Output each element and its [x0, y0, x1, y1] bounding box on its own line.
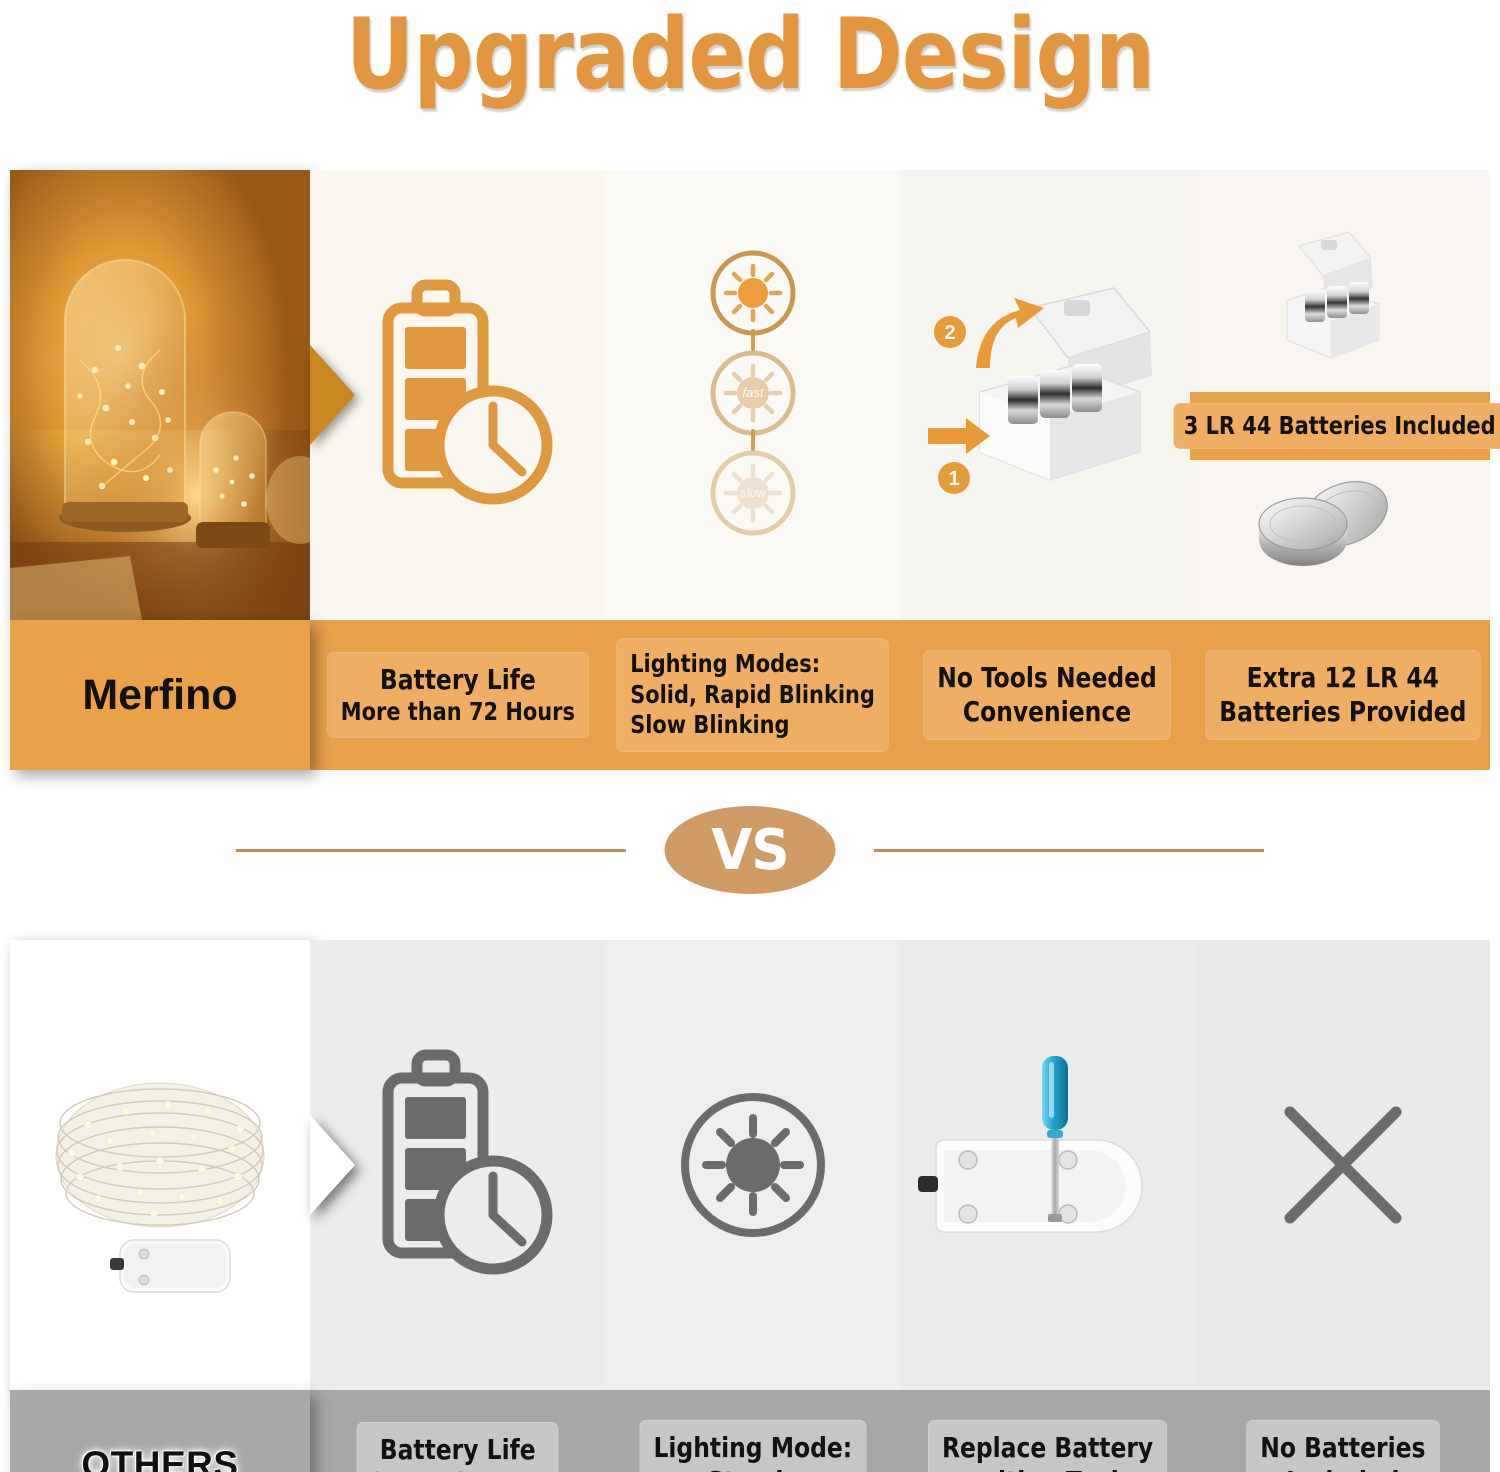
x-cross-icon [1268, 1090, 1418, 1240]
fast-mode-label: fast [742, 385, 764, 400]
card-line-2: Convenience [938, 695, 1158, 729]
card-line-1: No Batteries [1260, 1431, 1425, 1465]
merfino-pointer-arrow [310, 345, 355, 445]
batteries-included-text: 3 LR 44 Batteries Included [1184, 411, 1496, 442]
merfino-brand-name: Merfino [82, 671, 237, 720]
card-line-1: Lighting Modes: [630, 649, 875, 680]
others-feature-cell-1: Battery Life 24 or 48 Hours [310, 1422, 605, 1472]
vs-badge: VS [665, 806, 836, 894]
card-line-2: Steady [653, 1465, 852, 1472]
merfino-lighting-modes-card: Lighting Modes: Solid, Rapid Blinking Sl… [616, 638, 889, 752]
photo-shadow [10, 940, 310, 1390]
card-line-2: More than 72 Hours [340, 697, 574, 728]
others-replace-battery-panel [900, 940, 1195, 1390]
others-no-batteries-card: No Batteries Included [1246, 1420, 1439, 1472]
others-feature-cell-2: Lighting Mode: Steady [605, 1420, 900, 1472]
card-line-2: with a Tool [942, 1465, 1153, 1472]
merfino-feature-labels: Merfino Battery Life More than 72 Hours … [10, 620, 1490, 770]
others-brand-name: OTHERS [81, 1444, 238, 1472]
battery-clock-icon [358, 270, 558, 520]
others-icon-panels [10, 940, 1490, 1390]
card-line-3: Slow Blinking [630, 710, 875, 741]
card-line-2: 24 or 48 Hours [370, 1467, 544, 1472]
step-2-number: 2 [944, 322, 955, 344]
lighting-modes-sun-icons: fast slow [678, 245, 828, 545]
others-lighting-mode-panel [605, 940, 900, 1390]
card-line-1: Extra 12 LR 44 [1219, 661, 1466, 695]
step-2-arrow: 2 [934, 298, 1044, 368]
others-feature-cell-4: No Batteries Included [1195, 1420, 1490, 1472]
battery-clock-icon [358, 1040, 558, 1290]
step-1-number: 1 [948, 468, 959, 490]
merfino-no-tools-panel: 1 2 [900, 170, 1195, 620]
merfino-brand-cell: Merfino [10, 620, 310, 770]
merfino-battery-life-card: Battery Life More than 72 Hours [327, 652, 589, 739]
step-1-arrow: 1 [928, 418, 990, 494]
others-pointer-arrow [310, 1115, 355, 1215]
steady-sun-icon [668, 1080, 838, 1250]
others-comparison-block: OTHERS Battery Life 24 or 48 Hours Light… [10, 940, 1490, 1440]
photo-shadow [10, 170, 310, 620]
vs-line-right [874, 849, 1264, 852]
card-line-2: Batteries Provided [1219, 695, 1466, 729]
merfino-icon-panels: fast slow [10, 170, 1490, 620]
others-brand-cell: OTHERS [10, 1390, 310, 1472]
merfino-no-tools-card: No Tools Needed Convenience [924, 650, 1171, 740]
merfino-product-photo-panel [10, 170, 310, 620]
others-lighting-mode-card: Lighting Mode: Steady [639, 1420, 866, 1472]
card-line-1: Replace Battery [942, 1431, 1153, 1465]
merfino-feature-cell-1: Battery Life More than 72 Hours [310, 652, 605, 739]
battery-pack-screwdriver-icon [918, 1050, 1178, 1280]
others-product-photo-panel [10, 940, 310, 1390]
merfino-comparison-block: fast slow [10, 170, 1490, 770]
merfino-lighting-modes-panel: fast slow [605, 170, 900, 620]
merfino-feature-cell-3: No Tools Needed Convenience [900, 650, 1195, 740]
others-replace-battery-card: Replace Battery with a Tool [928, 1420, 1167, 1472]
lr44-coin-cells-icon [1195, 470, 1490, 610]
vs-line-left [236, 849, 626, 852]
others-feature-labels: OTHERS Battery Life 24 or 48 Hours Light… [10, 1390, 1490, 1472]
lr44-battery-box-icon [1195, 210, 1490, 390]
merfino-extra-batteries-panel: 3 LR 44 Batteries Included [1195, 170, 1490, 620]
merfino-feature-cell-2: Lighting Modes: Solid, Rapid Blinking Sl… [605, 638, 900, 752]
card-line-1: No Tools Needed [938, 661, 1158, 695]
batteries-included-card: 3 LR 44 Batteries Included [1174, 403, 1500, 450]
merfino-extra-batteries-card: Extra 12 LR 44 Batteries Provided [1205, 650, 1480, 740]
slow-mode-label: slow [739, 485, 767, 500]
batteries-included-badge: 3 LR 44 Batteries Included [1190, 392, 1490, 460]
page-title: Upgraded Design [105, 2, 1395, 110]
merfino-feature-cell-4: Extra 12 LR 44 Batteries Provided [1195, 650, 1490, 740]
others-no-batteries-panel [1195, 940, 1490, 1390]
vs-divider: VS [0, 790, 1500, 910]
card-line-1: Lighting Mode: [653, 1431, 852, 1465]
infographic-page: Upgraded Design [0, 0, 1500, 1472]
card-line-2: Solid, Rapid Blinking [630, 680, 875, 711]
others-feature-cell-3: Replace Battery with a Tool [900, 1420, 1195, 1472]
card-line-2: Included [1260, 1465, 1425, 1472]
card-line-1: Battery Life [340, 663, 574, 697]
others-battery-life-card: Battery Life 24 or 48 Hours [356, 1422, 558, 1472]
battery-box-open-icon: 1 2 [918, 280, 1178, 510]
card-line-1: Battery Life [370, 1433, 544, 1467]
